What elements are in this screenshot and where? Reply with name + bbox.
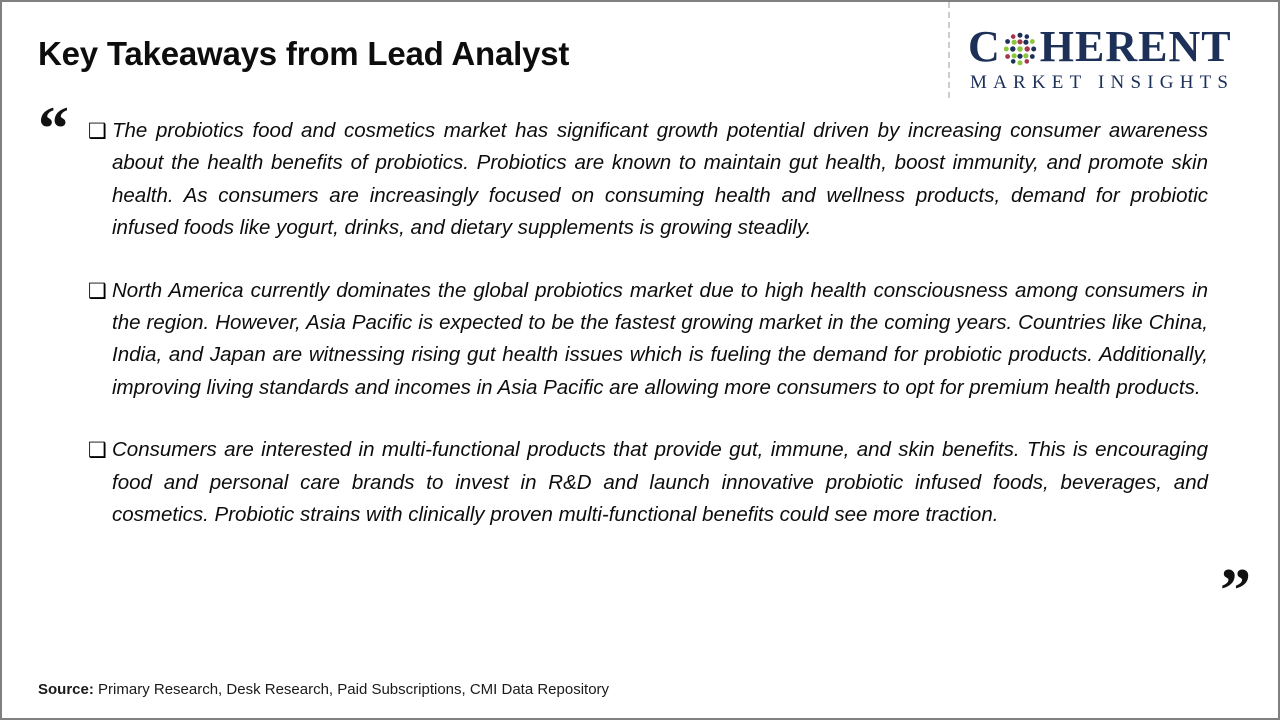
source-line: Source: Primary Research, Desk Research,…	[38, 681, 609, 698]
logo-wordmark: C	[968, 24, 1264, 70]
square-bullet-icon: ❑	[88, 120, 110, 142]
closing-quote-icon: ”	[1220, 560, 1249, 622]
globe-dots-icon	[1001, 30, 1039, 68]
list-item: ❑ North America currently dominates the …	[88, 275, 1208, 405]
slide-container: Key Takeaways from Lead Analyst C	[0, 0, 1280, 720]
slide-header: Key Takeaways from Lead Analyst C	[2, 2, 1278, 99]
company-logo: C	[968, 24, 1264, 96]
logo-brand-rest: HERENT	[1040, 24, 1232, 70]
takeaway-text: Consumers are interested in multi-functi…	[112, 434, 1208, 531]
takeaway-text: North America currently dominates the gl…	[112, 275, 1208, 405]
takeaways-list: ❑ The probiotics food and cosmetics mark…	[88, 115, 1208, 531]
square-bullet-icon: ❑	[88, 439, 110, 461]
opening-quote-icon: “	[38, 98, 67, 160]
list-item: ❑ Consumers are interested in multi-func…	[88, 434, 1208, 531]
header-dashed-divider	[948, 2, 950, 98]
logo-letter-c: C	[968, 24, 1001, 70]
square-bullet-icon: ❑	[88, 280, 110, 302]
source-value: Primary Research, Desk Research, Paid Su…	[94, 681, 609, 698]
logo-tagline: MARKET INSIGHTS	[970, 72, 1264, 94]
page-title: Key Takeaways from Lead Analyst	[38, 35, 569, 73]
list-item: ❑ The probiotics food and cosmetics mark…	[88, 115, 1208, 245]
takeaway-text: The probiotics food and cosmetics market…	[112, 115, 1208, 245]
source-label: Source:	[38, 681, 94, 698]
